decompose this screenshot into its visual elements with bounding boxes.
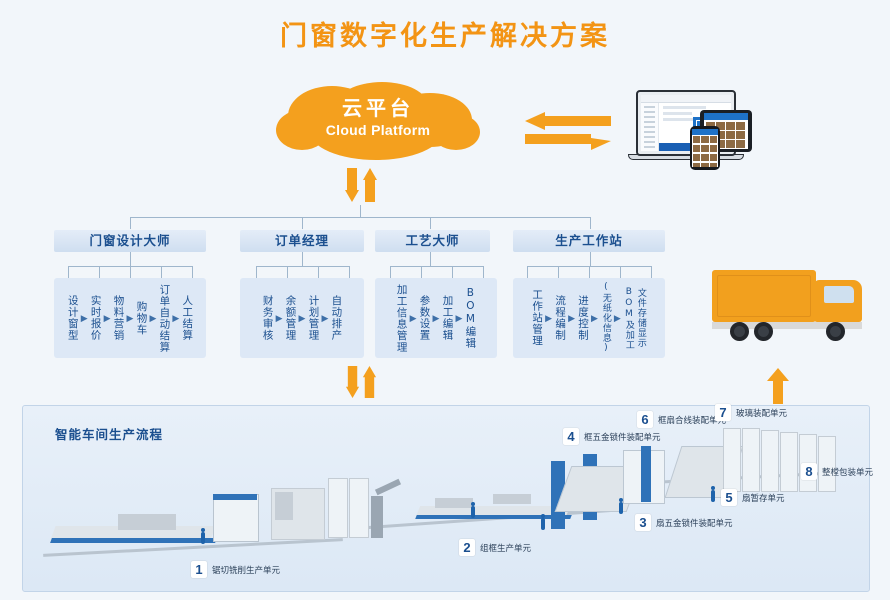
module-box-2: 财务审核 ▶ 余额管理 ▶ 计划管理 ▶ 自动排产	[240, 278, 364, 358]
workshop-unit-8-number: 8	[801, 463, 817, 480]
module-4-tick-d	[620, 266, 621, 278]
workshop-unit-1[interactable]: 1 锯切铣削生产单元	[191, 561, 280, 578]
chevron-right-icon: ▶	[591, 314, 598, 323]
phone-screen	[690, 126, 720, 170]
module-3-bracket	[390, 266, 483, 267]
page-title: 门窗数字化生产解决方案	[0, 14, 890, 53]
module-2-item-0[interactable]: 财务审核	[262, 295, 274, 341]
worker-2	[471, 506, 475, 518]
workshop-unit-5-label: 扇暂存单元	[742, 492, 785, 504]
module-box-3: 加工信息管理 ▶ 参数设置 ▶ 加工编辑 ▶ BOM编辑	[375, 278, 497, 358]
module-2-item-1[interactable]: 余额管理	[285, 295, 297, 341]
tree-stem	[360, 205, 361, 217]
module-1-item-5[interactable]: 人工结算	[181, 295, 193, 341]
module-3-bracket-stem	[430, 252, 431, 266]
chevron-right-icon: ▶	[104, 314, 111, 323]
module-1-item-2[interactable]: 物料营销	[113, 295, 125, 341]
module-1-tick-d	[161, 266, 162, 278]
glass-rack-d	[780, 432, 798, 492]
module-4-tick-b	[558, 266, 559, 278]
module-2-tick-a	[256, 266, 257, 278]
module-4-item-4[interactable]: 文件存储显示BOM及加工	[623, 279, 647, 357]
chevron-right-icon: ▶	[545, 314, 552, 323]
worker-3	[619, 502, 623, 514]
arrow-left-icon	[525, 112, 611, 130]
module-3-item-2[interactable]: 加工编辑	[441, 295, 453, 341]
conveyor-1-rail	[50, 538, 217, 543]
storage-rack-b	[349, 478, 369, 538]
module-4-item-1[interactable]: 流程编制	[554, 295, 566, 341]
workshop-unit-1-number: 1	[191, 561, 207, 578]
chevron-right-icon: ▶	[172, 314, 179, 323]
workshop-unit-7-number: 7	[715, 404, 731, 421]
workshop-unit-8-label: 整樘包装单元	[822, 466, 873, 478]
assembly-post-3	[641, 446, 651, 502]
saw-table	[118, 514, 176, 530]
tree-drop-4	[590, 217, 591, 229]
module-box-1: 设计窗型 ▶ 实时报价 ▶ 物料营销 ▶ 购物车 ▶ 订单自动结算 ▶ 人工结算	[54, 278, 206, 358]
chevron-right-icon: ▶	[276, 314, 283, 323]
chevron-right-icon: ▶	[568, 314, 575, 323]
workshop-unit-2[interactable]: 2 组框生产单元	[459, 539, 531, 556]
arrow-up-icon	[363, 366, 376, 398]
arrow-up-icon	[363, 168, 377, 202]
arrow-down-icon	[345, 168, 359, 202]
module-1-tick-a	[68, 266, 69, 278]
module-3-item-0[interactable]: 加工信息管理	[396, 284, 408, 353]
truck-arrow	[767, 368, 789, 409]
cnc-cabinet-top	[213, 494, 257, 500]
module-3-tick-b	[421, 266, 422, 278]
tree-drop-2	[302, 217, 303, 229]
frame-jig-b	[493, 494, 531, 504]
module-3-tick-a	[390, 266, 391, 278]
workshop-unit-3[interactable]: 3 扇五金锁件装配单元	[635, 514, 733, 531]
workshop-unit-2-label: 组框生产单元	[480, 542, 531, 554]
solution-diagram: 门窗数字化生产解决方案 云平台 Cloud Platform	[0, 0, 890, 600]
workshop-updown-arrows	[345, 366, 377, 403]
glass-rack-b	[742, 428, 760, 492]
module-4-item-2[interactable]: 进度控制	[577, 295, 589, 341]
cloud-updown-arrows	[345, 168, 377, 207]
arrow-up-icon	[767, 368, 789, 404]
module-2-tick-d	[349, 266, 350, 278]
glass-rack-c	[761, 430, 779, 492]
worker-4	[541, 518, 545, 530]
module-1-tick-b	[99, 266, 100, 278]
workshop-unit-3-number: 3	[635, 514, 651, 531]
module-2-tick-c	[318, 266, 319, 278]
workshop-unit-4[interactable]: 4 框五金锁件装配单元	[563, 428, 661, 445]
module-3-tick-c	[452, 266, 453, 278]
module-4-tick-c	[589, 266, 590, 278]
sync-arrows	[525, 112, 611, 161]
chevron-right-icon: ▶	[614, 314, 621, 323]
workshop-unit-7-label: 玻璃装配单元	[736, 407, 787, 419]
workshop-unit-4-label: 框五金锁件装配单元	[584, 431, 661, 443]
device-preview-group	[628, 88, 758, 170]
module-header-3[interactable]: 工艺大师	[375, 230, 490, 252]
workshop-unit-5[interactable]: 5 扇暂存单元	[721, 489, 785, 506]
cloud-icon	[272, 82, 484, 164]
module-4-bracket-stem	[590, 252, 591, 266]
workshop-unit-8[interactable]: 8 整樘包装单元	[801, 463, 873, 480]
workshop-unit-3-label: 扇五金锁件装配单元	[656, 517, 733, 529]
module-4-tick-a	[527, 266, 528, 278]
conveyor-2-rail	[415, 515, 572, 519]
module-3-item-1[interactable]: 参数设置	[419, 295, 431, 341]
module-1-item-1[interactable]: 实时报价	[90, 295, 102, 341]
worker-5	[711, 490, 715, 502]
module-4-item-0[interactable]: 工作站管理	[531, 289, 543, 347]
module-2-item-2[interactable]: 计划管理	[307, 295, 319, 341]
robot-arm-base	[371, 496, 383, 538]
module-3-item-3[interactable]: BOM编辑	[464, 287, 476, 349]
module-2-bracket	[256, 266, 349, 267]
module-1-item-0[interactable]: 设计窗型	[67, 295, 79, 341]
chevron-right-icon: ▶	[455, 314, 462, 323]
module-1-tick-c	[130, 266, 131, 278]
cnc-cabinet	[213, 494, 259, 542]
chevron-right-icon: ▶	[127, 314, 134, 323]
module-2-bracket-stem	[302, 252, 303, 266]
glass-rack-a	[723, 428, 741, 492]
workshop-panel: 智能车间生产流程	[22, 405, 870, 592]
module-2-item-3[interactable]: 自动排产	[330, 295, 342, 341]
module-box-4: 工作站管理 ▶ 流程编制 ▶ 进度控制 ▶ (无纸化信息) ▶ 文件存储显示BO…	[513, 278, 665, 358]
module-1-bracket-stem	[130, 252, 131, 266]
workshop-unit-5-number: 5	[721, 489, 737, 506]
delivery-truck-icon	[712, 262, 874, 354]
workshop-unit-1-label: 锯切铣削生产单元	[212, 564, 280, 576]
workshop-unit-2-number: 2	[459, 539, 475, 556]
arrow-down-icon	[346, 366, 359, 398]
arrow-right-icon	[525, 134, 611, 150]
module-1-tick-e	[192, 266, 193, 278]
module-2-tick-b	[287, 266, 288, 278]
module-header-1[interactable]: 门窗设计大师	[54, 230, 206, 252]
module-header-2[interactable]: 订单经理	[240, 230, 364, 252]
module-1-item-3[interactable]: 购物车	[135, 301, 147, 336]
tree-drop-1	[130, 217, 131, 229]
tree-drop-3	[430, 217, 431, 229]
chevron-right-icon: ▶	[321, 314, 328, 323]
workshop-unit-6-number: 6	[637, 411, 653, 428]
chevron-right-icon: ▶	[81, 314, 88, 323]
module-3-tick-d	[483, 266, 484, 278]
workshop-unit-7[interactable]: 7 玻璃装配单元	[715, 404, 787, 421]
chevron-right-icon: ▶	[433, 314, 440, 323]
module-4-item-3[interactable]: (无纸化信息)	[600, 282, 612, 354]
module-header-4[interactable]: 生产工作站	[513, 230, 665, 252]
module-1-item-4[interactable]: 订单自动结算	[158, 284, 170, 353]
milling-head	[275, 492, 293, 520]
module-4-tick-e	[651, 266, 652, 278]
workshop-title: 智能车间生产流程	[55, 424, 163, 443]
chevron-right-icon: ▶	[149, 314, 156, 323]
frame-jig-a	[435, 498, 473, 508]
chevron-right-icon: ▶	[299, 314, 306, 323]
workshop-unit-6[interactable]: 6 框扇合线装配单元	[637, 411, 726, 428]
tree-bus	[130, 217, 590, 218]
storage-rack-a	[328, 478, 348, 538]
cloud-platform-node[interactable]: 云平台 Cloud Platform	[272, 82, 484, 164]
workshop-unit-4-number: 4	[563, 428, 579, 445]
robot-arm	[375, 479, 401, 495]
chevron-right-icon: ▶	[410, 314, 417, 323]
worker-1	[201, 532, 205, 544]
